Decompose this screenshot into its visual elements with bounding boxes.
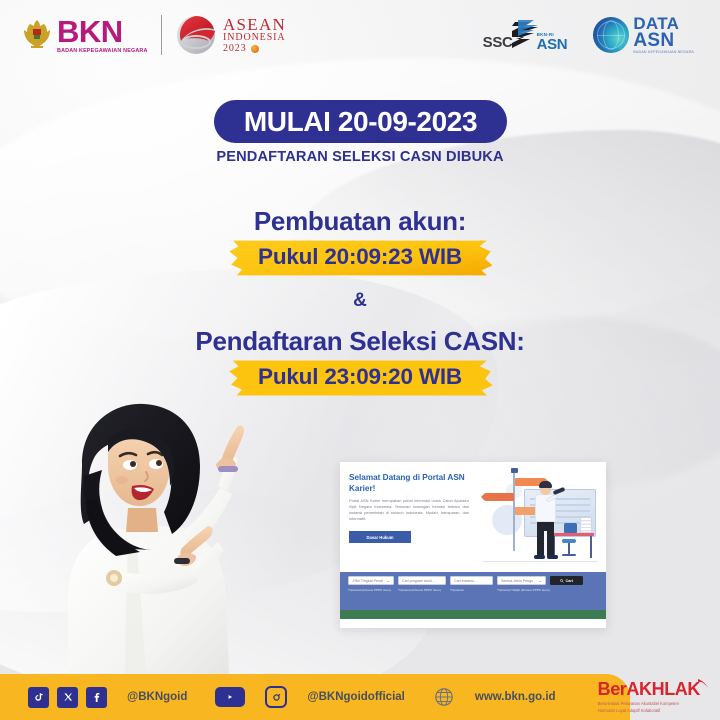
poster-canvas: BKN BADAN KEPEGAWAIAN NEGARA: [0, 0, 720, 720]
registration-subtitle-text: PENDAFTARAN SELEKSI CASN DIBUKA: [216, 149, 503, 165]
registration-time-text: Pukul 23:09:20 WIB: [258, 364, 462, 389]
start-date-text: MULAI 20-09-2023: [244, 106, 477, 138]
portal-bottom-whitespace: [340, 619, 606, 628]
chevron-down-icon: ⌄: [387, 578, 390, 583]
footer-handle-2: @BKNgoidofficial: [307, 691, 404, 703]
data-asn-tagline: BADAN KEPEGAWAIAN NEGARA: [633, 51, 694, 54]
portal-field-note-2: *Opsional (khusus PPPK Guru): [398, 588, 446, 592]
portal-study-program-input[interactable]: Cari program studi...: [398, 576, 446, 585]
registration-subtitle: PENDAFTARAN SELEKSI CASN DIBUKA: [0, 148, 720, 166]
portal-search-button[interactable]: Cari: [550, 576, 583, 585]
start-date-pill: MULAI 20-09-2023: [214, 100, 507, 143]
asean-logo: ASEAN INDONESIA 2023: [175, 14, 286, 56]
portal-agency-input[interactable]: Cari instansi...: [450, 576, 493, 585]
portal-dasar-hukum-label: Dasar Hukum: [367, 535, 394, 540]
berakhlak-brand: BerAKHLAK Berorientasi Pelayanan Akuntab…: [598, 679, 700, 714]
ssc-asn-text: ASN: [537, 38, 568, 52]
berakhlak-name: BerAKHLAK: [598, 679, 700, 700]
ssc-asn-logo: SSC BKN-RI ASN: [483, 19, 568, 51]
ssc-chevron-icon: [512, 19, 538, 51]
portal-agency-placeholder: Cari instansi...: [454, 579, 477, 583]
ssc-prefix-text: SSC: [483, 34, 513, 51]
footer-handle-1: @BKNgoid: [127, 691, 187, 703]
portal-hero: Selamat Datang di Portal ASN Karier! Por…: [340, 467, 606, 572]
account-creation-title: Pembuatan akun:: [0, 206, 720, 237]
portal-dasar-hukum-button[interactable]: Dasar Hukum: [349, 531, 411, 543]
header-logo-bar: BKN BADAN KEPEGAWAIAN NEGARA: [0, 0, 720, 70]
footer-social-row: @BKNgoid @BKNgoidofficial www.bkn.go.id: [28, 674, 556, 720]
account-creation-block: Pembuatan akun: Pukul 20:09:23 WIB: [0, 206, 720, 277]
berakhlak-tagline-1: Berorientasi Pelayanan Akuntabel Kompete…: [598, 701, 700, 707]
asn-karier-portal-screenshot[interactable]: Selamat Datang di Portal ASN Karier! Por…: [340, 462, 606, 628]
portal-announcement-type-select[interactable]: Semua Jenis Pengu ⌄: [497, 576, 546, 585]
instagram-icon[interactable]: [265, 686, 287, 708]
registration-title: Pendaftaran Seleksi CASN:: [0, 326, 720, 357]
footer-bar: @BKNgoid @BKNgoidofficial www.bkn.go.id …: [0, 674, 720, 720]
chevron-down-icon: ⌄: [539, 578, 542, 583]
illustration-person-icon: [528, 481, 568, 569]
data-asn-line-2: ASN: [633, 32, 694, 50]
asean-line-1: ASEAN: [223, 16, 286, 33]
presenter-photo: [24, 400, 274, 700]
portal-illustration: [476, 467, 600, 572]
ampersand-text: &: [353, 290, 367, 311]
bkn-wordmark-text: BKN: [57, 16, 148, 47]
illustration-signpost-2: [485, 493, 514, 501]
portal-field-note-4: *Opsional *Wajib (khusus PPPK Guru): [497, 588, 550, 592]
portal-field-note-3: *Opsional: [450, 588, 493, 592]
portal-announcement-type-value: Semua Jenis Pengu: [501, 579, 533, 583]
bkn-asean-logo-group: BKN BADAN KEPEGAWAIAN NEGARA: [22, 14, 286, 56]
bkn-wordmark-subtitle: BADAN KEPEGAWAIAN NEGARA: [57, 49, 148, 54]
registration-block: Pendaftaran Seleksi CASN: Pukul 23:09:20…: [0, 326, 720, 397]
garuda-emblem-icon: [22, 18, 52, 52]
data-asn-logo: DATA ASN BADAN KEPEGAWAIAN NEGARA: [593, 16, 694, 54]
asean-emblem-dot-icon: [251, 45, 259, 53]
asean-line-3: 2023: [223, 44, 247, 54]
portal-search-button-label: Cari: [566, 579, 573, 583]
youtube-icon[interactable]: [215, 687, 245, 707]
portal-search-bar: -Pilih Tingkat Pendi ⌄ Cari program stud…: [340, 572, 606, 610]
portal-paragraph: Portal ASN Karier merupakan portal infor…: [349, 498, 469, 522]
portal-footer-bar: [340, 610, 606, 619]
berakhlak-tagline-2: Harmonis Loyal Adaptif Kolaboratif: [598, 708, 700, 714]
portal-heading: Selamat Datang di Portal ASN Karier!: [349, 473, 469, 494]
globe-icon: [433, 686, 455, 708]
partner-logo-group: SSC BKN-RI ASN DATA ASN: [483, 16, 694, 54]
data-asn-globe-icon: [593, 17, 629, 53]
account-creation-time-text: Pukul 20:09:23 WIB: [258, 244, 462, 269]
portal-study-program-placeholder: Cari program studi...: [402, 579, 435, 583]
portal-hero-copy: Selamat Datang di Portal ASN Karier! Por…: [349, 473, 469, 543]
tiktok-icon[interactable]: [28, 687, 49, 708]
asean-wordmark: ASEAN INDONESIA 2023: [223, 16, 286, 54]
x-twitter-icon[interactable]: [57, 687, 78, 708]
berakhlak-name-text: BerAKHLAK: [598, 679, 700, 699]
account-creation-time-ribbon: Pukul 20:09:23 WIB: [222, 239, 498, 277]
portal-education-level-value: -Pilih Tingkat Pendi: [352, 579, 383, 583]
footer-website-url[interactable]: www.bkn.go.id: [475, 691, 556, 703]
facebook-icon[interactable]: [86, 687, 107, 708]
registration-time-ribbon: Pukul 23:09:20 WIB: [222, 359, 498, 397]
search-icon: [560, 579, 564, 583]
portal-field-note-1: *Opsional (khusus PPPK Guru): [348, 588, 394, 592]
bkn-wordmark: BKN BADAN KEPEGAWAIAN NEGARA: [57, 16, 148, 54]
ampersand-separator: &: [0, 290, 720, 312]
berakhlak-swish-icon: [697, 674, 709, 686]
asean-globe-icon: [175, 14, 217, 56]
portal-education-level-select[interactable]: -Pilih Tingkat Pendi ⌄: [348, 576, 394, 585]
data-asn-wordmark: DATA ASN BADAN KEPEGAWAIAN NEGARA: [633, 16, 694, 54]
logo-divider: [161, 15, 162, 55]
